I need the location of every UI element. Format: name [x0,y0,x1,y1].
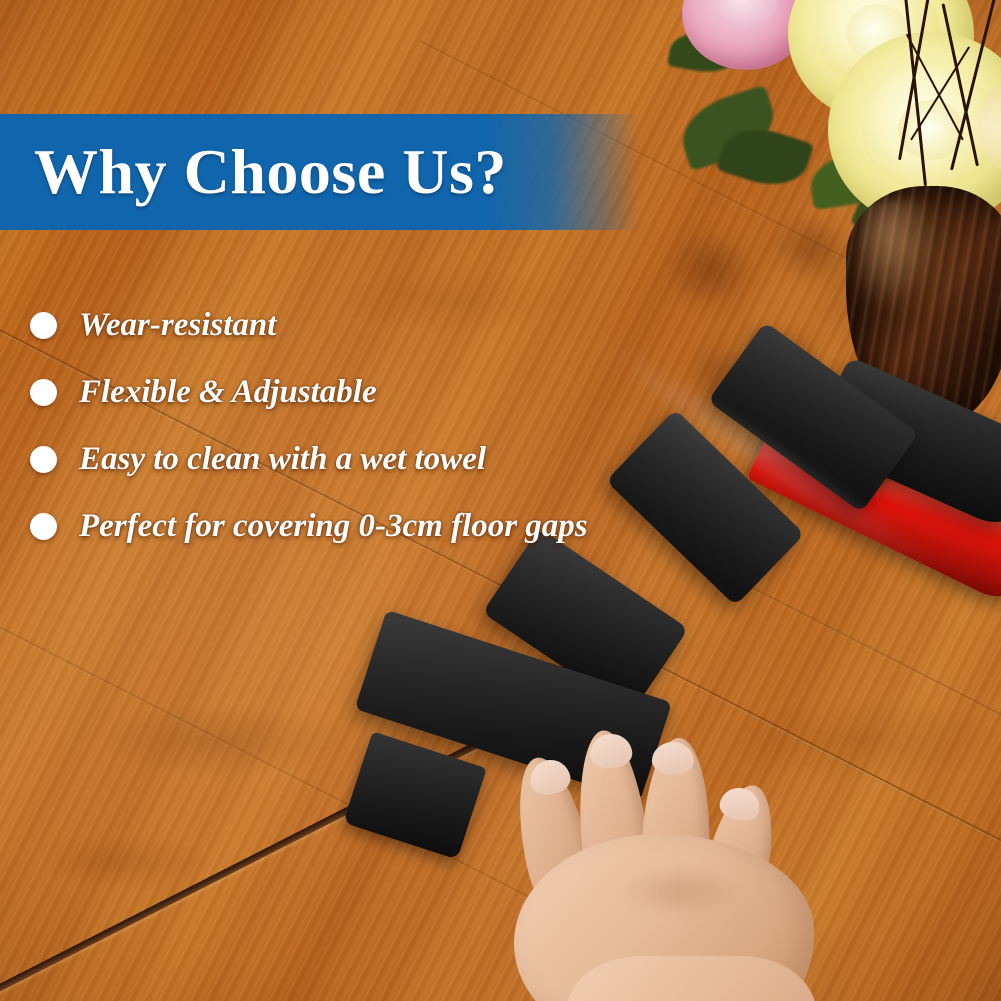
black-strip-end [343,731,487,859]
hand [470,716,1001,1001]
feature-item: Perfect for covering 0-3cm floor gaps [30,493,810,560]
feature-label: Easy to clean with a wet towel [79,441,486,478]
feature-item: Flexible & Adjustable [30,359,810,426]
bullet-dot-icon [30,312,57,339]
feature-list: Wear-resistant Flexible & Adjustable Eas… [30,292,810,560]
feature-label: Wear-resistant [79,307,276,344]
feature-item: Wear-resistant [30,292,810,359]
feature-label: Perfect for covering 0-3cm floor gaps [79,508,588,545]
feature-item: Easy to clean with a wet towel [30,426,810,493]
bullet-dot-icon [30,446,57,473]
feature-label: Flexible & Adjustable [79,374,377,411]
wrist [566,956,816,1001]
why-choose-us-banner: Why Choose Us? [0,114,640,230]
bullet-dot-icon [30,379,57,406]
product-image: Why Choose Us? Wear-resistant Flexible &… [0,0,1001,1001]
bullet-dot-icon [30,513,57,540]
knuckle-shadow [620,866,740,916]
banner-title: Why Choose Us? [34,140,507,204]
